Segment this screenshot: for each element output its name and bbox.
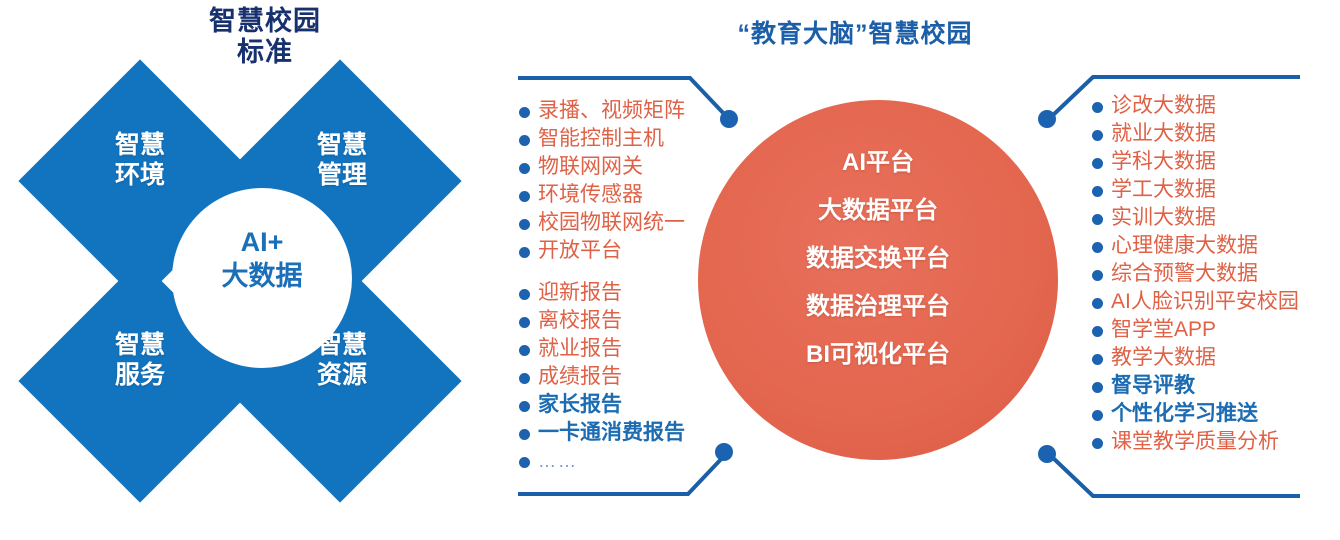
list-item-label: 就业报告 [538, 335, 622, 363]
left-cluster-title: 智慧校园 标准 [120, 6, 410, 68]
bullet-dot-icon [1092, 158, 1103, 169]
list-item-label: 教学大数据 [1111, 344, 1216, 372]
bullet-dot-icon [519, 429, 530, 440]
list-item-label: 迎新报告 [538, 279, 622, 307]
bullet-dot-icon [1092, 270, 1103, 281]
bullet-dot-icon [519, 163, 530, 174]
list-item-label: 个性化学习推送 [1111, 400, 1258, 428]
diamond-label-management: 智慧 管理 [262, 130, 422, 190]
list-item-label: 校园物联网统一 [538, 209, 685, 237]
list-item-label: 成绩报告 [538, 363, 622, 391]
bullet-dot-icon [519, 373, 530, 384]
list-item-label: 开放平台 [538, 237, 622, 265]
bullet-dot-icon [519, 219, 530, 230]
bullet-dot-icon [1092, 410, 1103, 421]
platform-item: 数据治理平台 [698, 292, 1058, 322]
list-item-label: 实训大数据 [1111, 204, 1216, 232]
center-circle-label: AI+ 大数据 [172, 225, 352, 293]
platform-item: 数据交换平台 [698, 244, 1058, 274]
list-item-label: 智能控制主机 [538, 125, 664, 153]
list-item-label: 督导评教 [1111, 372, 1195, 400]
list-item-label: 家长报告 [538, 391, 622, 419]
bullet-dot-icon [519, 107, 530, 118]
bullet-dot-icon [519, 247, 530, 258]
platform-list: AI平台大数据平台数据交换平台数据治理平台BI可视化平台 [698, 148, 1058, 370]
platform-item: 大数据平台 [698, 196, 1058, 226]
bullet-dot-icon [1092, 382, 1103, 393]
list-item-label: …… [538, 447, 578, 475]
list-item-label: AI人脸识别平安校园 [1111, 288, 1299, 316]
bullet-dot-icon [519, 289, 530, 300]
list-item-label: 学科大数据 [1111, 148, 1216, 176]
platform-item: AI平台 [698, 148, 1058, 178]
bullet-dot-icon [519, 345, 530, 356]
list-item-label: 智学堂APP [1111, 316, 1216, 344]
list-item-label: 学工大数据 [1111, 176, 1216, 204]
list-item-label: 心理健康大数据 [1111, 232, 1258, 260]
bullet-dot-icon [519, 317, 530, 328]
list-item-label: 录播、视频矩阵 [538, 97, 685, 125]
list-item-label: 一卡通消费报告 [538, 419, 685, 447]
diamond-label-environment: 智慧 环境 [60, 130, 220, 190]
bullet-dot-icon [1092, 102, 1103, 113]
bullet-dot-icon [1092, 214, 1103, 225]
smart-campus-standard-cluster: 智慧校园 标准 智慧 环境 智慧 管理 智慧 服务 智慧 资源 AI+ 大数据 [0, 0, 500, 540]
bullet-dot-icon [1092, 354, 1103, 365]
list-item-label: 离校报告 [538, 307, 622, 335]
list-item-label: 诊改大数据 [1111, 92, 1216, 120]
list-item-label: 物联网网关 [538, 153, 643, 181]
bullet-dot-icon [519, 135, 530, 146]
bullet-dot-icon [1092, 298, 1103, 309]
bullet-dot-icon [1092, 242, 1103, 253]
bullet-dot-icon [519, 191, 530, 202]
bullet-dot-icon [1092, 438, 1103, 449]
main-title: “教育大脑”智慧校园 [620, 14, 1090, 50]
list-item-label: 就业大数据 [1111, 120, 1216, 148]
bullet-dot-icon [1092, 186, 1103, 197]
bullet-dot-icon [1092, 326, 1103, 337]
bullet-dot-icon [519, 457, 530, 468]
platform-item: BI可视化平台 [698, 340, 1058, 370]
list-item-label: 环境传感器 [538, 181, 643, 209]
list-item-label: 课堂教学质量分析 [1111, 428, 1279, 456]
list-item-label: 综合预警大数据 [1111, 260, 1258, 288]
bullet-dot-icon [1092, 130, 1103, 141]
diagram-root: 智慧校园 标准 智慧 环境 智慧 管理 智慧 服务 智慧 资源 AI+ 大数据 … [0, 0, 1340, 540]
bullet-dot-icon [519, 401, 530, 412]
